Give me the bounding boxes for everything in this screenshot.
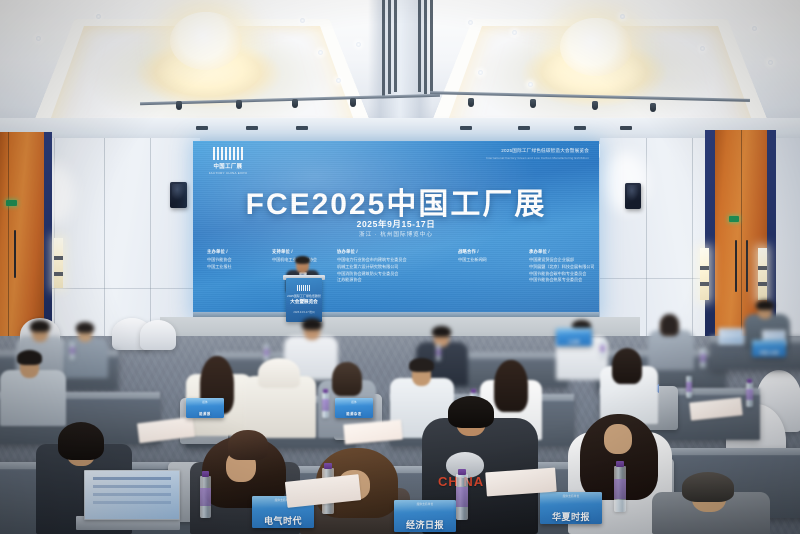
ceiling-downlight [512,30,517,35]
soffit-vent [246,126,258,130]
soffit-vent [296,126,308,130]
soffit-vent [460,126,472,130]
attendee-hair [756,300,774,310]
ceiling-downlight [336,78,341,83]
screen-header-en: International Factory Green and Low Carb… [486,156,589,160]
screen-venue: 浙江 · 杭州国际博览中心 [193,230,599,238]
ceiling-downlight [468,20,473,25]
entrance-door-left[interactable] [0,132,44,338]
expo-logo: 中国工厂展 FACTORY CHINA EXPO [205,147,251,177]
paper-document [485,468,557,497]
wall-sconce-right-a [700,248,709,300]
factory-bars-icon [213,147,243,160]
wall-sconce-left [54,238,63,288]
water-bottle[interactable] [436,344,441,361]
wall-speaker-right [625,183,641,209]
ceiling-downlight [96,14,101,19]
table-name-card-jingji: 媒体支持单位 经济日报 [394,500,456,532]
organizer-column-strategic: 战略合作 / 中国工业新闻网 [458,249,520,284]
ceiling-downlight [768,60,773,65]
attendee-hair [432,326,451,337]
attendee-hood [258,358,300,388]
organizer-column-undertaker: 承办单位 / 中国建设贸促会企业展部 中贸展盟（北京）科技会展有限公司 中国节能… [529,249,625,284]
organizer-line: 中国电力行业协会市内建筑专业委员会 [337,257,449,264]
table-name-card-huaxia: 媒体支持单位 华夏时报 [540,492,602,524]
laptop-screen [85,471,179,519]
round-banquet-table [140,320,176,350]
podium-line-2: 大会暨展览会 [286,299,322,305]
door-handle-right[interactable] [735,240,737,292]
name-card-sub: 媒体支持单位 [563,494,580,498]
exit-sign-left [6,200,17,206]
attendee-laptop[interactable] [718,328,744,345]
track-spotlight [236,100,242,109]
ceiling-vent-slot [388,0,391,94]
attendee-hair [448,396,494,428]
attendee-hair-long [494,360,528,412]
expo-logo-en: FACTORY CHINA EXPO [205,171,251,175]
organizer-line: 机械工业第六设计研究院有限公司 [337,264,449,271]
water-bottle[interactable] [746,382,753,407]
track-spotlight [592,101,598,110]
water-bottle[interactable] [322,392,329,418]
track-spotlight [530,99,536,108]
soffit-vent [620,126,632,130]
name-card-sub: 媒体 [351,400,357,404]
ceiling-vent-slot [418,0,421,92]
door-handle-left[interactable] [14,230,16,278]
attendee-hair-long [332,362,362,396]
door-frame-right [705,130,715,338]
attendee-hair [30,320,50,332]
expo-logo-cn: 中国工厂展 [205,162,251,170]
door-handle-right-2[interactable] [746,240,748,292]
sconce-band [758,282,767,286]
name-card-label: 能源杂志 [346,413,362,416]
organizer-column-cohost: 协办单位 / 中国电力行业协会市内建筑专业委员会 机械工业第六设计研究院有限公司… [337,249,449,284]
soffit-vent [518,126,530,130]
track-spotlight [292,99,298,108]
attendee-body [0,370,66,426]
ceiling-downlight [478,70,483,75]
ceiling-downlight [356,42,361,47]
organizer-line: 中贸展盟（北京）科技会展有限公司 [529,264,625,271]
attendee-hair [409,358,434,372]
name-card-label: 电气时代 [264,517,302,526]
organizer-block: 主办单位 / 中国节能协会 中国工业报社 支持单位 / 中国机电工业经济区协会 … [207,249,589,284]
organizer-heading: 承办单位 / [529,249,625,255]
open-laptop[interactable] [84,470,180,520]
track-spotlight [468,98,474,107]
attendee-hair [660,314,679,336]
ceiling-center-beam [0,0,800,132]
sconce-band [54,256,63,260]
podium: 2025国际工厂绿色低碳智造 大会暨展览会 2025.9.15-17 杭州 [286,278,322,322]
ceiling-downlight [528,82,533,87]
door-seam [8,132,9,338]
organizer-heading: 协办单位 / [337,249,449,255]
organizer-line: 中国建设贸促会企业展部 [529,257,625,264]
track-spotlight [350,98,356,107]
sconce-band [700,282,709,286]
ceiling-downlight [752,26,757,31]
attendee-hair-bun [228,430,268,460]
water-bottle[interactable] [700,348,706,368]
organizer-heading: 战略合作 / [458,249,520,255]
table-name-card: 媒体 能源杂志 [335,398,373,418]
podium-line-3: 2025.9.15-17 杭州 [286,310,322,314]
attendee-hair [302,318,322,330]
led-stage-screen: 中国工厂展 FACTORY CHINA EXPO 2025国际工厂绿色低碳智造大… [193,141,599,317]
ceiling-vent-slot [382,0,385,96]
water-bottle[interactable] [600,340,605,357]
organizer-line: 江苏能源协会 [337,277,449,284]
water-bottle[interactable] [456,474,468,520]
screen-date: 2025年9月15-17日 [193,218,599,230]
attendee-hair-long [612,348,642,384]
name-card-label: 能源报 [199,413,211,416]
water-bottle[interactable] [686,376,692,398]
name-card-label: 经济日报 [406,521,444,530]
door-seam [741,130,742,338]
name-card-label: 中国工业报 [759,352,778,355]
ballroom-interior: 中国工厂展 FACTORY CHINA EXPO 2025国际工厂绿色低碳智造大… [0,0,800,534]
name-card-label: 工业网 [568,341,580,344]
screen-title: FCE2025中国工厂展 [193,179,599,223]
ceiling-downlight [620,14,625,19]
screen-header: 2025国际工厂绿色低碳智造大会暨展览会 International Facto… [486,148,589,160]
ceiling-downlight [700,46,705,51]
organizer-line: 中国工业新闻网 [458,257,520,264]
track-spotlight [650,103,656,112]
sconce-band [700,266,709,270]
water-bottle[interactable] [70,342,75,360]
speaker-hair [295,256,310,264]
table-name-card: 中国工业报 [752,340,786,357]
sconce-band [758,266,767,270]
attendee-hair [58,422,104,460]
exit-sign-right [729,216,739,222]
name-card-sub: 媒体支持单位 [417,502,434,506]
organizer-heading: 主办单位 / [207,249,263,255]
ceiling-downlight [36,36,41,41]
conference-hall-photo: 中国工厂展 FACTORY CHINA EXPO 2025国际工厂绿色低碳智造大… [0,0,800,534]
ceiling-vent-slot [394,0,397,92]
wall-speaker-left [170,182,187,208]
ceiling-vent-slot [430,0,433,96]
attendee-hair [76,322,94,333]
attendee-body [648,330,694,370]
table-name-card: 媒体 能源报 [186,398,224,418]
ceiling-downlight [318,50,323,55]
wall-sconce-right-b [758,248,767,300]
name-card-label: 华夏时报 [552,513,590,522]
water-bottle[interactable] [614,466,626,512]
track-spotlight [176,101,182,110]
name-card-sub: 媒体 [202,400,208,404]
soffit-vent [574,126,586,130]
attendee-hair [682,472,734,502]
screen-header-cn: 2025国际工厂绿色低碳智造大会暨展览会 [486,148,589,154]
attendee-head [604,424,632,454]
attendee-hair [17,350,42,365]
soffit-vent [196,126,208,130]
sconce-band [54,272,63,276]
water-bottle[interactable] [200,476,211,518]
ceiling [0,0,800,132]
organizer-column-host: 主办单位 / 中国节能协会 中国工业报社 [207,249,263,284]
organizer-line: 中国工业报社 [207,264,263,271]
podium-logo-icon [297,285,311,291]
organizer-line: 中国节能协会热泵专业委员会 [529,277,625,284]
ceiling-downlight [300,18,305,23]
organizer-line: 中国节能协会 [207,257,263,264]
table-name-card: 工业网 [556,328,592,346]
ceiling-vent-slot [424,0,427,94]
organizer-heading: 支持单位 / [272,249,328,255]
